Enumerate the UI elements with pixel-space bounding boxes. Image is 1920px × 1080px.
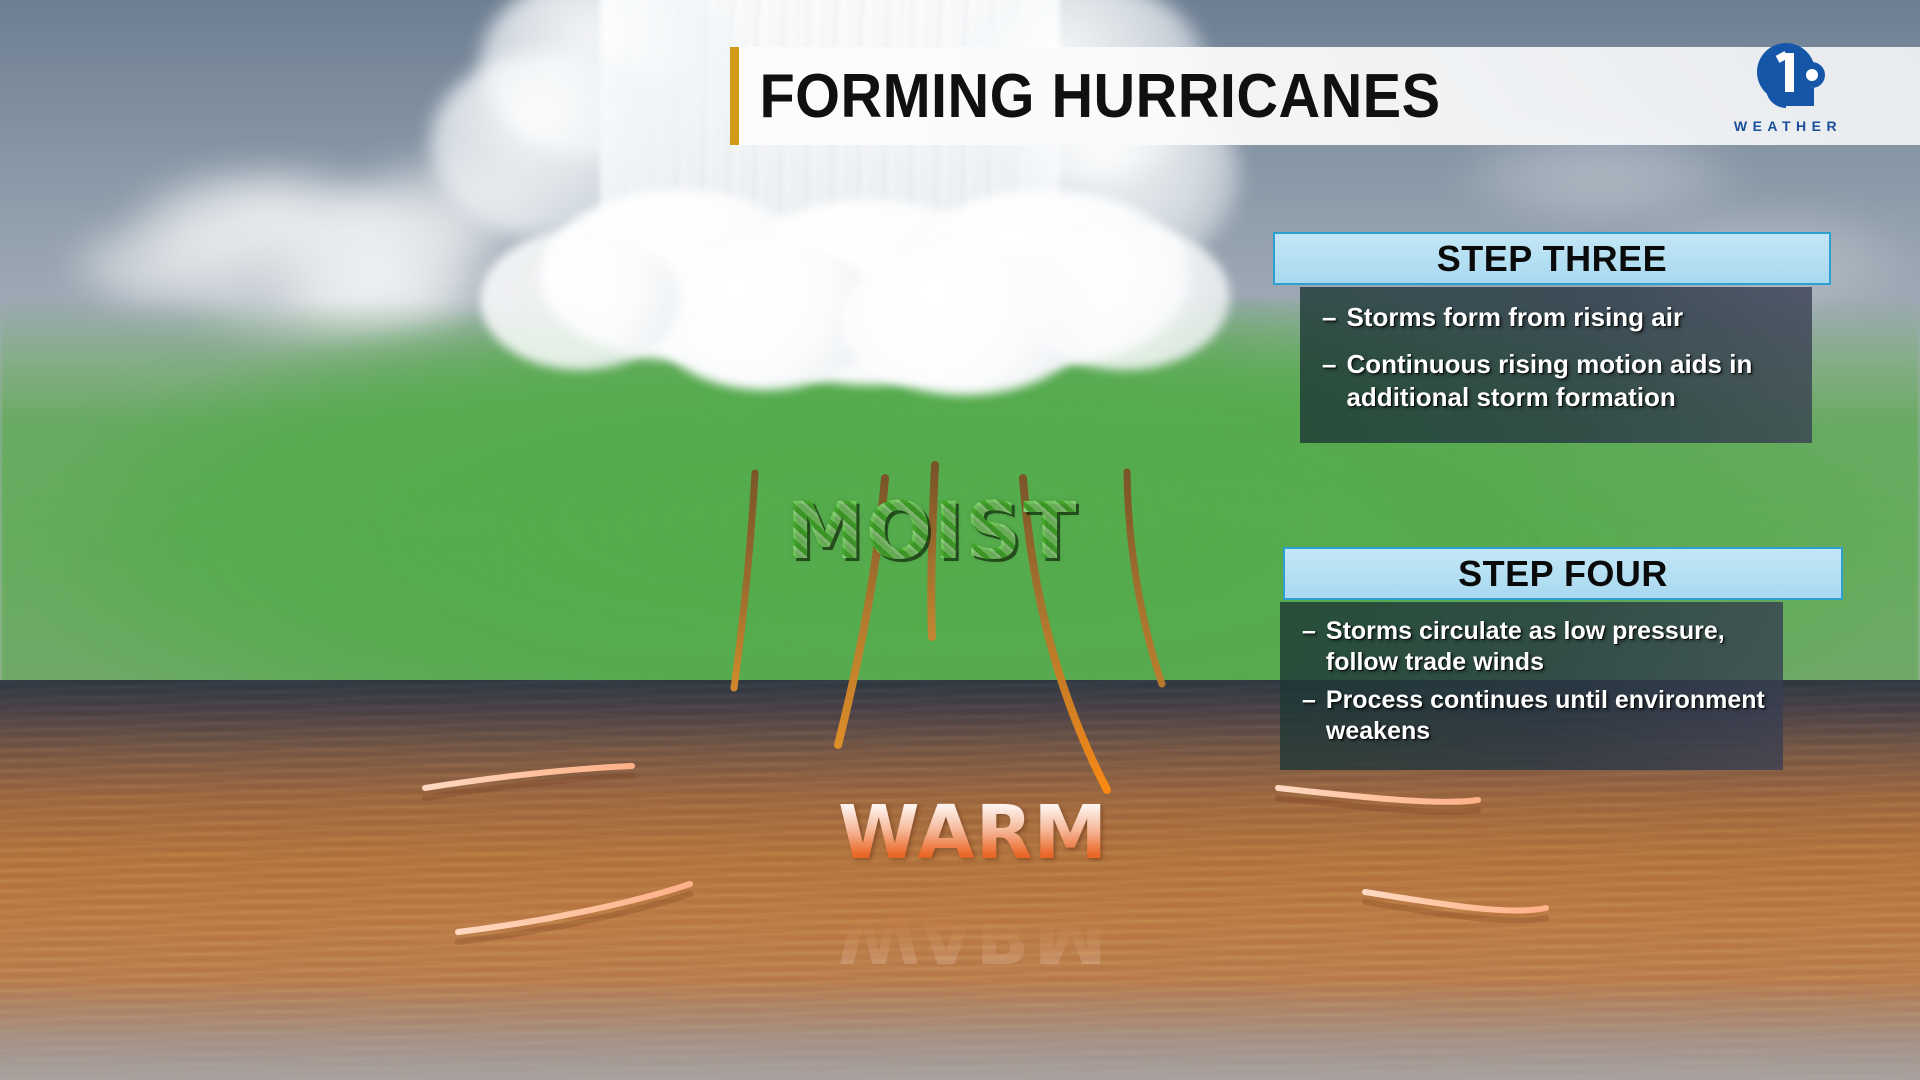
weather-graphic-slide: MOIST MOIST WARM WARM FORMING HURRICANES… xyxy=(0,0,1920,1080)
logo-label: WEATHER xyxy=(1728,118,1848,134)
bullet-dash: – xyxy=(1302,616,1316,647)
warm-label-reflection: WARM xyxy=(838,892,1108,978)
bullet-dash: – xyxy=(1322,348,1336,381)
step-three-heading: STEP THREE xyxy=(1437,238,1667,280)
bullet-text: Storms form from rising air xyxy=(1346,301,1794,334)
warm-label: WARM xyxy=(838,790,1108,876)
moist-label: MOIST xyxy=(786,487,1078,577)
step-four-heading: STEP FOUR xyxy=(1458,553,1668,595)
bullet-item: – Storms circulate as low pressure, foll… xyxy=(1302,616,1765,677)
page-title: FORMING HURRICANES xyxy=(739,61,1441,132)
bullet-text: Storms circulate as low pressure, follow… xyxy=(1326,616,1765,677)
bullet-item: – Storms form from rising air xyxy=(1322,301,1794,334)
step-three-header: STEP THREE xyxy=(1273,232,1831,285)
step-four-header: STEP FOUR xyxy=(1283,547,1843,600)
title-accent-bar xyxy=(730,47,739,145)
bullet-text: Process continues until environment weak… xyxy=(1326,685,1765,746)
station-logo: WEATHER xyxy=(1728,38,1848,136)
logo-mark-icon xyxy=(1728,38,1848,118)
step-four-card: STEP FOUR – Storms circulate as low pres… xyxy=(1283,547,1843,600)
cloud-puff xyxy=(480,230,680,370)
bullet-dash: – xyxy=(1302,685,1316,716)
bullet-item: – Continuous rising motion aids in addit… xyxy=(1322,348,1794,414)
step-four-body: – Storms circulate as low pressure, foll… xyxy=(1280,602,1783,770)
bullet-dash: – xyxy=(1322,301,1336,334)
bullet-text: Continuous rising motion aids in additio… xyxy=(1346,348,1794,414)
bullet-item: – Process continues until environment we… xyxy=(1302,685,1765,746)
ocean-bottom-fade xyxy=(0,980,1920,1080)
step-three-card: STEP THREE – Storms form from rising air… xyxy=(1273,232,1831,285)
warm-label-group: WARM WARM xyxy=(838,790,1108,978)
cloud-puff xyxy=(1020,225,1230,370)
step-three-body: – Storms form from rising air – Continuo… xyxy=(1300,287,1812,443)
